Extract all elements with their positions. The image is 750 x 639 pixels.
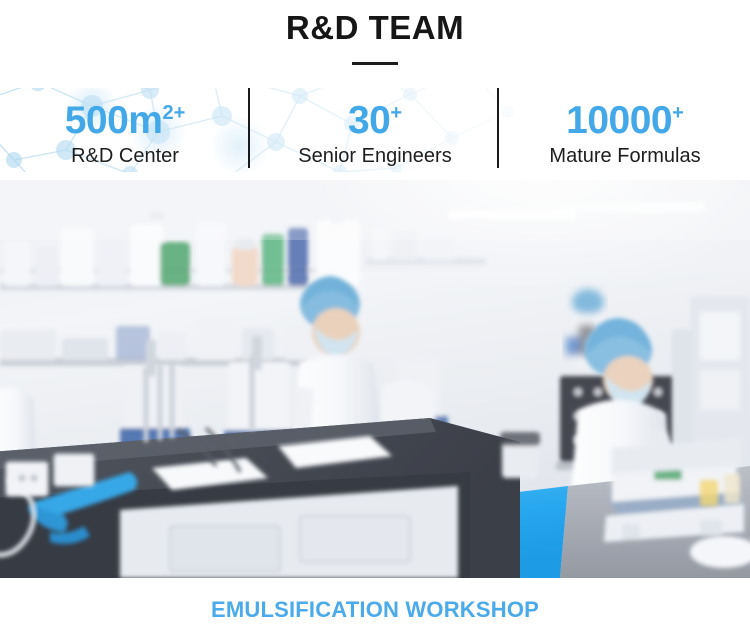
- stat-senior-engineers: 30+ Senior Engineers: [250, 88, 500, 169]
- stat-senior-engineers-label: Senior Engineers: [250, 143, 500, 169]
- rd-team-page: R&D TEAM: [0, 0, 750, 639]
- stat-mature-formulas-superscript: +: [672, 102, 684, 124]
- stat-mature-formulas-number: 10000: [566, 99, 672, 142]
- stat-rd-center-superscript: 2+: [162, 102, 185, 124]
- page-title: R&D TEAM: [0, 8, 750, 48]
- stats-band: 500m2+ R&D Center 30+ Senior Engineers 1…: [0, 76, 750, 180]
- title-underline-divider: [352, 62, 398, 65]
- title-block: R&D TEAM: [0, 0, 750, 76]
- workshop-photo-illustration: [0, 180, 750, 578]
- caption-band: EMULSIFICATION WORKSHOP: [0, 578, 750, 639]
- stat-rd-center: 500m2+ R&D Center: [0, 88, 250, 169]
- workshop-photo: [0, 180, 750, 578]
- stat-mature-formulas: 10000+ Mature Formulas: [500, 88, 750, 169]
- stat-senior-engineers-superscript: +: [390, 102, 402, 124]
- stat-senior-engineers-number: 30: [348, 99, 390, 142]
- stat-rd-center-number: 500m: [65, 99, 163, 142]
- stat-rd-center-label: R&D Center: [0, 143, 250, 169]
- stat-mature-formulas-value: 10000+: [500, 92, 750, 142]
- stat-rd-center-value: 500m2+: [0, 92, 250, 142]
- stats-row: 500m2+ R&D Center 30+ Senior Engineers 1…: [0, 76, 750, 180]
- stat-mature-formulas-label: Mature Formulas: [500, 143, 750, 169]
- stat-senior-engineers-value: 30+: [250, 92, 500, 142]
- stat-divider-1: [248, 88, 250, 168]
- stat-divider-2: [497, 88, 499, 168]
- workshop-caption: EMULSIFICATION WORKSHOP: [0, 596, 750, 624]
